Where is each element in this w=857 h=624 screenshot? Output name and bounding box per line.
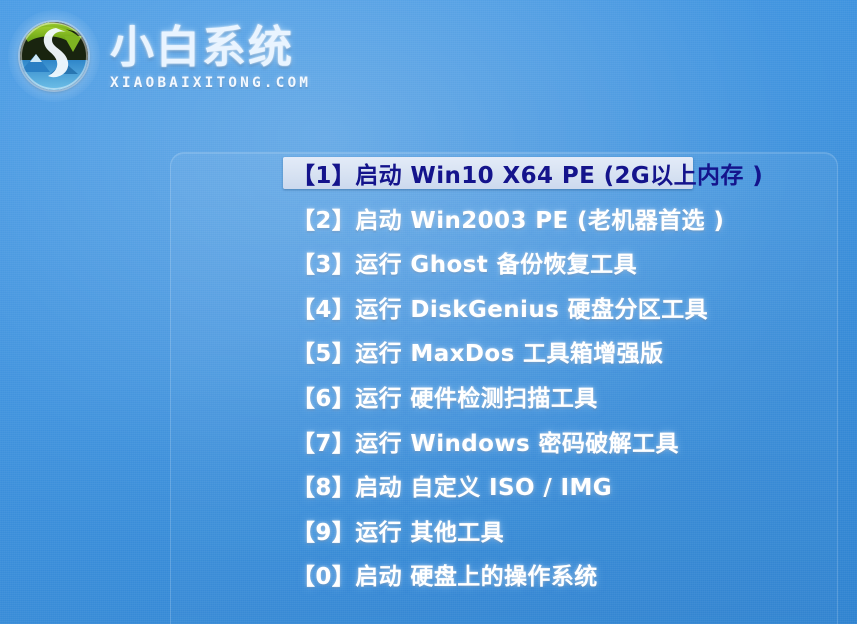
menu-item-4-key: 【4】 <box>292 290 355 324</box>
menu-item-9-label: 运行 其他工具 <box>355 513 504 547</box>
xiaobai-circular-refresh-logo-icon <box>8 10 100 102</box>
menu-item-3-label: 运行 Ghost 备份恢复工具 <box>355 245 637 279</box>
menu-item-9[interactable]: 【9】 运行 其他工具 <box>283 514 513 546</box>
menu-item-5[interactable]: 【5】 运行 MaxDos 工具箱增强版 <box>283 335 672 367</box>
menu-item-2-key: 【2】 <box>292 201 355 235</box>
menu-item-9-key: 【9】 <box>292 513 355 547</box>
menu-item-7[interactable]: 【7】 运行 Windows 密码破解工具 <box>283 425 688 457</box>
menu-item-3-key: 【3】 <box>292 245 355 279</box>
menu-item-0-label: 启动 硬盘上的操作系统 <box>355 557 597 591</box>
menu-item-5-key: 【5】 <box>292 334 355 368</box>
boot-menu-panel: 【1】 启动 Win10 X64 PE (2G以上内存 ) 【2】 启动 Win… <box>170 152 838 624</box>
menu-item-5-label: 运行 MaxDos 工具箱增强版 <box>355 334 663 368</box>
brand-text: 小白系统 XIAOBAIXITONG.COM <box>110 22 311 91</box>
menu-item-8[interactable]: 【8】 启动 自定义 ISO / IMG <box>283 469 621 501</box>
menu-item-4[interactable]: 【4】 运行 DiskGenius 硬盘分区工具 <box>283 291 717 323</box>
boot-menu-screen: 小白系统 XIAOBAIXITONG.COM 【1】 启动 Win10 X64 … <box>0 0 857 624</box>
menu-item-3[interactable]: 【3】 运行 Ghost 备份恢复工具 <box>283 246 646 278</box>
menu-item-2[interactable]: 【2】 启动 Win2003 PE (老机器首选 ) <box>283 202 733 234</box>
menu-item-8-key: 【8】 <box>292 468 355 502</box>
brand-title-cn: 小白系统 <box>110 26 311 70</box>
logo-disc <box>20 22 88 90</box>
menu-item-1[interactable]: 【1】 启动 Win10 X64 PE (2G以上内存 ) <box>283 157 693 189</box>
logo-artwork-icon <box>20 22 88 90</box>
menu-item-2-label: 启动 Win2003 PE (老机器首选 ) <box>355 201 724 235</box>
menu-item-7-label: 运行 Windows 密码破解工具 <box>355 424 679 458</box>
menu-item-1-key: 【1】 <box>292 156 355 190</box>
menu-item-1-label: 启动 Win10 X64 PE (2G以上内存 ) <box>355 156 763 190</box>
menu-item-8-label: 启动 自定义 ISO / IMG <box>355 468 612 502</box>
menu-item-4-label: 运行 DiskGenius 硬盘分区工具 <box>355 290 708 324</box>
menu-item-6-key: 【6】 <box>292 379 355 413</box>
brand-logo: 小白系统 XIAOBAIXITONG.COM <box>8 10 311 102</box>
boot-menu-list: 【1】 启动 Win10 X64 PE (2G以上内存 ) 【2】 启动 Win… <box>283 157 823 603</box>
menu-item-6-label: 运行 硬件检测扫描工具 <box>355 379 597 413</box>
menu-item-0[interactable]: 【0】 启动 硬盘上的操作系统 <box>283 558 607 590</box>
menu-item-7-key: 【7】 <box>292 424 355 458</box>
menu-item-6[interactable]: 【6】 运行 硬件检测扫描工具 <box>283 380 607 412</box>
brand-title-en: XIAOBAIXITONG.COM <box>110 75 311 91</box>
menu-item-0-key: 【0】 <box>292 557 355 591</box>
